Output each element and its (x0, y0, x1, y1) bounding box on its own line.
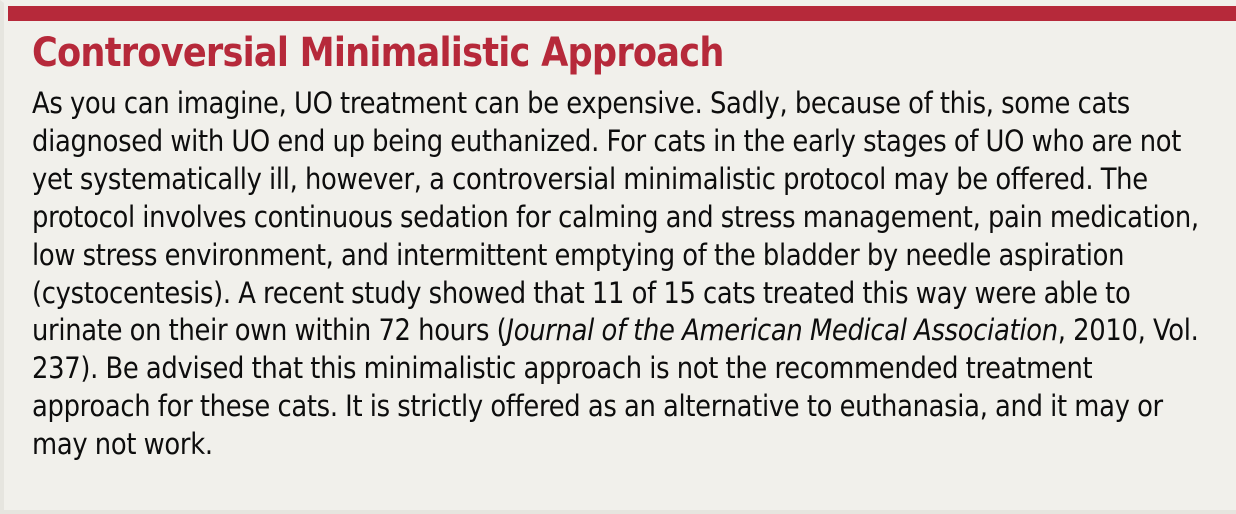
body-segment-0: As you can imagine, UO treatment can be … (32, 86, 1199, 347)
page-title: Controversial Minimalistic Approach (32, 29, 1083, 77)
body-segment-1: Journal of the American Medical Associat… (506, 313, 1057, 347)
callout-content: Controversial Minimalistic Approach As y… (32, 29, 1226, 464)
accent-bar (8, 6, 1236, 21)
body-paragraph: As you can imagine, UO treatment can be … (32, 85, 1209, 464)
sidebar-callout-panel: Controversial Minimalistic Approach As y… (0, 0, 1236, 514)
